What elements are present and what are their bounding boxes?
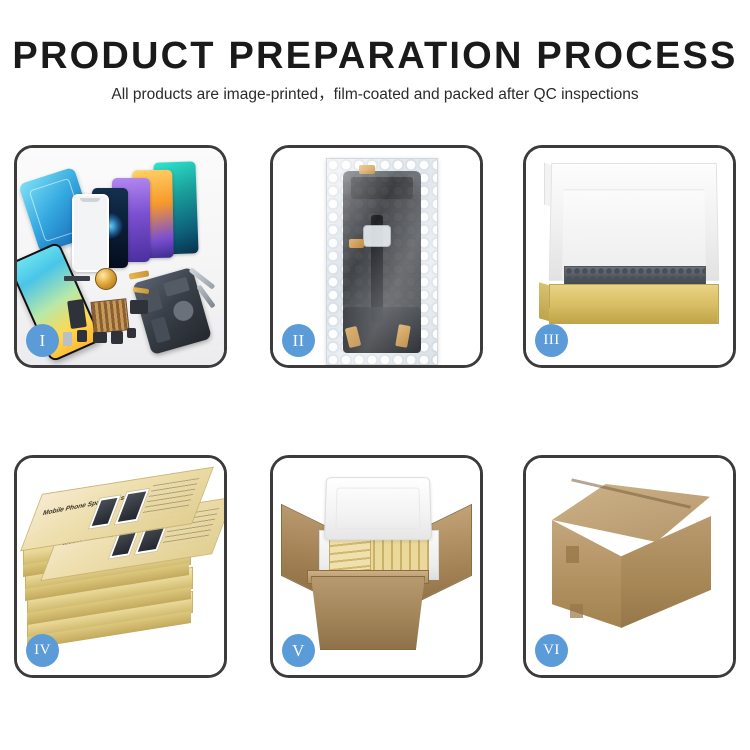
- process-step-panel-1: I: [14, 145, 227, 368]
- small-component-3: [111, 331, 123, 344]
- small-component-2: [93, 332, 107, 343]
- process-step-panel-5: V: [270, 455, 483, 678]
- step-badge-3: III: [535, 324, 568, 357]
- carton-tape-patch-upper: [566, 546, 579, 563]
- page-title: PRODUCT PREPARATION PROCESS: [0, 34, 750, 78]
- process-step-panel-2: II: [270, 145, 483, 368]
- step-badge-6: VI: [535, 634, 568, 667]
- styrofoam-lid: [324, 477, 432, 540]
- wrapped-part-connector: [363, 225, 391, 247]
- carton-tape-patch-lower: [570, 604, 583, 618]
- process-step-panel-4: Mobile Phone Spare Parts Mobile Phone Sp…: [14, 455, 227, 678]
- component-strip-1: [64, 276, 90, 281]
- bubble-wrap-bag: [326, 158, 438, 365]
- lid-spec-lines-top: [141, 478, 199, 517]
- flex-cable-2: [130, 300, 148, 314]
- step-badge-2: II: [282, 324, 315, 357]
- process-steps-grid: I II: [14, 145, 736, 677]
- page-subtitle: All products are image-printed，film-coat…: [0, 85, 750, 105]
- wireless-charging-coil: [95, 268, 117, 290]
- white-foam-lid: [549, 163, 720, 281]
- small-component-1: [77, 330, 87, 342]
- box-stack: Mobile Phone Spare Parts Mobile Phone Sp…: [23, 476, 223, 656]
- sim-tray: [63, 332, 72, 346]
- carton-body: [311, 576, 425, 650]
- product-preparation-process-page: PRODUCT PREPARATION PROCESS All products…: [0, 0, 750, 750]
- step-badge-1: I: [26, 324, 59, 357]
- process-step-panel-6: VI: [523, 455, 736, 678]
- chip-grid-component: [90, 298, 129, 334]
- header: PRODUCT PREPARATION PROCESS All products…: [0, 34, 750, 105]
- tape-tab-top: [359, 165, 375, 174]
- small-component-4: [127, 328, 136, 338]
- process-step-panel-3: III: [523, 145, 736, 368]
- step-badge-5: V: [282, 634, 315, 667]
- yellow-box-front: [549, 308, 717, 324]
- screen-glass-panel: [72, 194, 109, 272]
- step-badge-4: IV: [26, 634, 59, 667]
- tape-tab-middle: [349, 239, 364, 248]
